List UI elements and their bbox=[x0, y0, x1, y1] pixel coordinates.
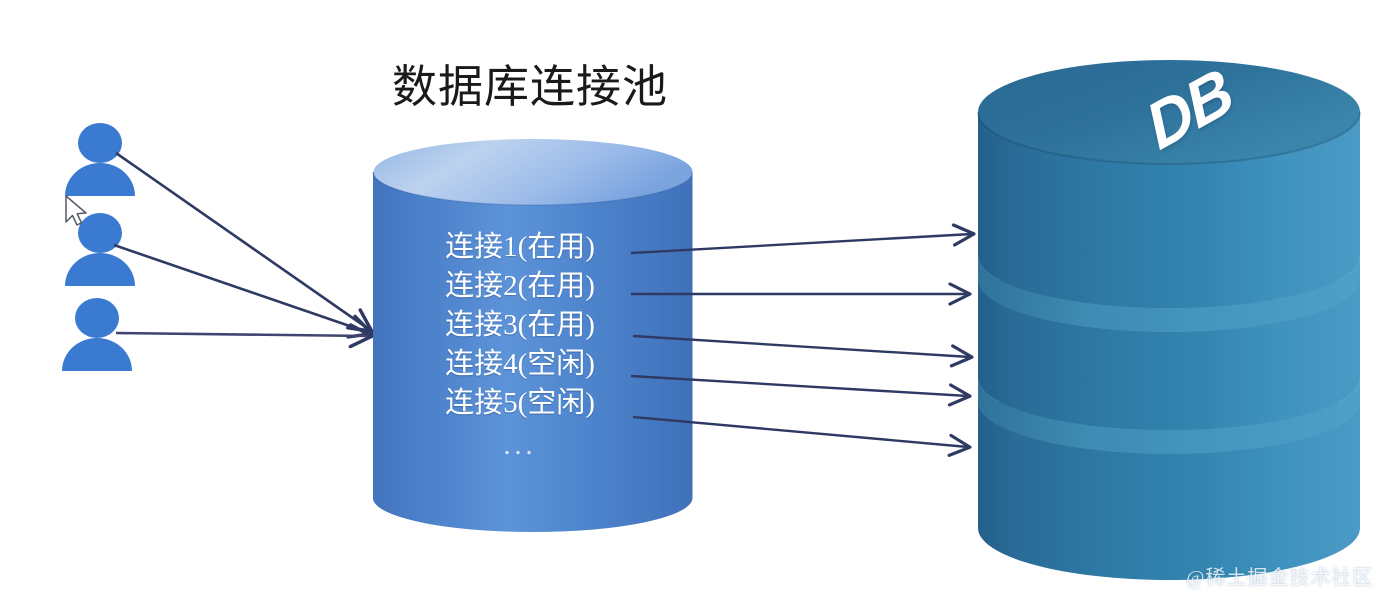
diagram-shapes bbox=[0, 0, 1384, 602]
connection-item: 连接3(在用) bbox=[400, 306, 640, 345]
connection-list: 连接1(在用) 连接2(在用) 连接3(在用) 连接4(空闲) 连接5(空闲) … bbox=[400, 228, 640, 463]
connection-more-indicator: ... bbox=[400, 429, 640, 463]
connection-item: 连接5(空闲) bbox=[400, 384, 640, 423]
connection-item: 连接4(空闲) bbox=[400, 345, 640, 384]
arrow-client-to-pool-1 bbox=[116, 153, 370, 330]
watermark: @稀土掘金技术社区 bbox=[1186, 561, 1373, 590]
connection-item: 连接2(在用) bbox=[400, 267, 640, 306]
diagram-canvas: 数据库连接池 连接1(在用) 连接2(在用) 连接3(在用) 连接4(空闲) 连… bbox=[0, 0, 1384, 602]
client-icon-3 bbox=[62, 298, 132, 371]
database-cylinder bbox=[978, 60, 1360, 580]
arrow-client-to-pool-3 bbox=[116, 333, 370, 336]
pool-title: 数据库连接池 bbox=[392, 64, 662, 111]
connection-item: 连接1(在用) bbox=[400, 228, 640, 267]
arrow-client-to-pool-2 bbox=[114, 245, 370, 333]
